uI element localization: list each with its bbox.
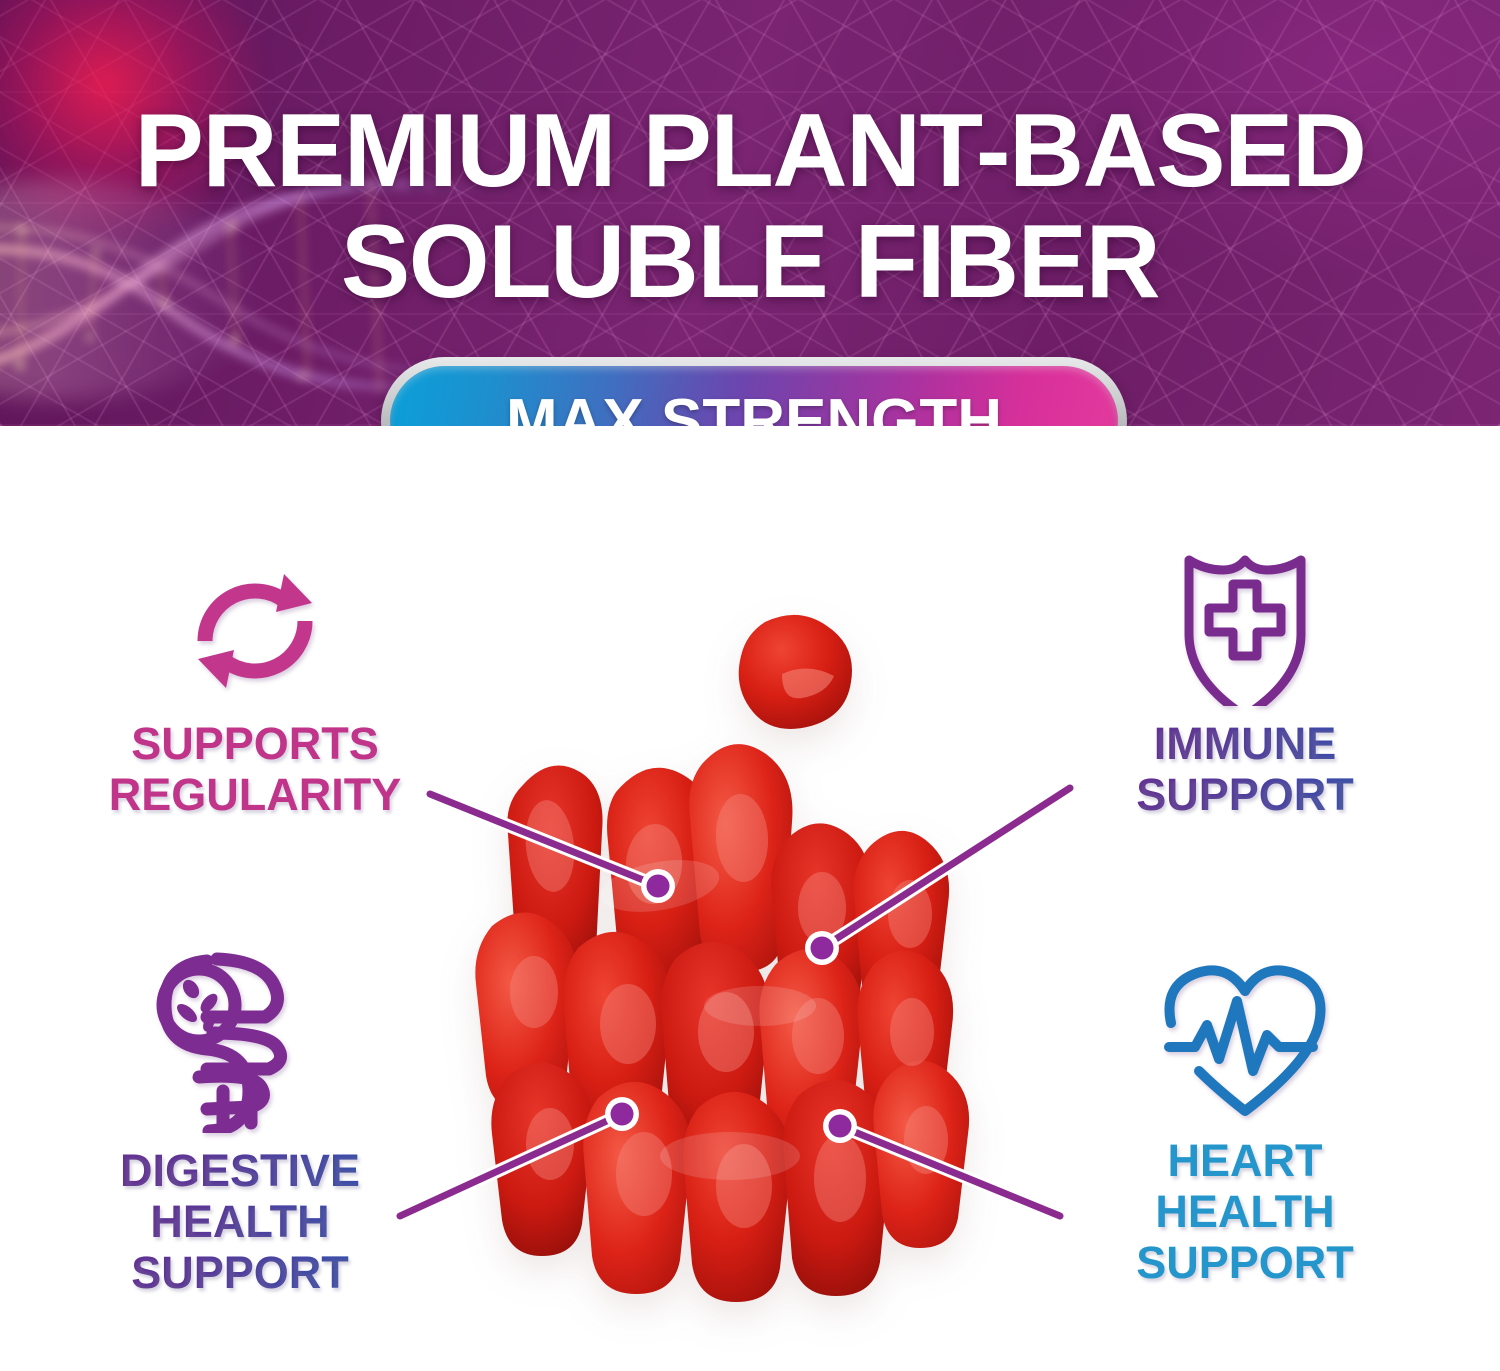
feature-label-line-2: REGULARITY (55, 769, 455, 820)
feature-supports-regularity: SUPPORTS REGULARITY (55, 556, 455, 820)
feature-label-supports-regularity: SUPPORTS REGULARITY (55, 718, 455, 820)
feature-label-line-3: SUPPORT (1045, 1237, 1445, 1288)
features-stage: SUPPORTS REGULARITY IMMUNE SUPPORT (0, 426, 1500, 1366)
title-line-2: SOLUBLE FIBER (0, 203, 1500, 321)
feature-digestive-health-support: DIGESTIVE HEALTH SUPPORT (40, 951, 440, 1298)
bacteria-marks (174, 977, 221, 1033)
gummy-pile-image (430, 596, 1040, 1356)
feature-label-immune-support: IMMUNE SUPPORT (1045, 718, 1445, 820)
heart-pulse-icon (1045, 961, 1445, 1123)
feature-label-heart-health-support: HEART HEALTH SUPPORT (1045, 1135, 1445, 1288)
feature-label-line-2: HEALTH (1045, 1186, 1445, 1237)
title-line-1: PREMIUM PLANT-BASED (0, 92, 1500, 210)
shield-plus-icon (1045, 538, 1445, 706)
feature-label-line-1: SUPPORTS (55, 718, 455, 769)
feature-label-line-1: IMMUNE (1045, 718, 1445, 769)
feature-label-line-1: HEART (1045, 1135, 1445, 1186)
recycle-arrows-icon (55, 556, 455, 706)
feature-label-line-2: HEALTH (40, 1196, 440, 1247)
feature-immune-support: IMMUNE SUPPORT (1045, 538, 1445, 820)
intestine-microbiome-icon (40, 951, 440, 1133)
feature-label-line-2: SUPPORT (1045, 769, 1445, 820)
feature-label-digestive-health-support: DIGESTIVE HEALTH SUPPORT (40, 1145, 440, 1298)
feature-label-line-3: SUPPORT (40, 1247, 440, 1298)
feature-heart-health-support: HEART HEALTH SUPPORT (1045, 961, 1445, 1288)
gummy-single (739, 615, 852, 729)
feature-label-line-1: DIGESTIVE (40, 1145, 440, 1196)
